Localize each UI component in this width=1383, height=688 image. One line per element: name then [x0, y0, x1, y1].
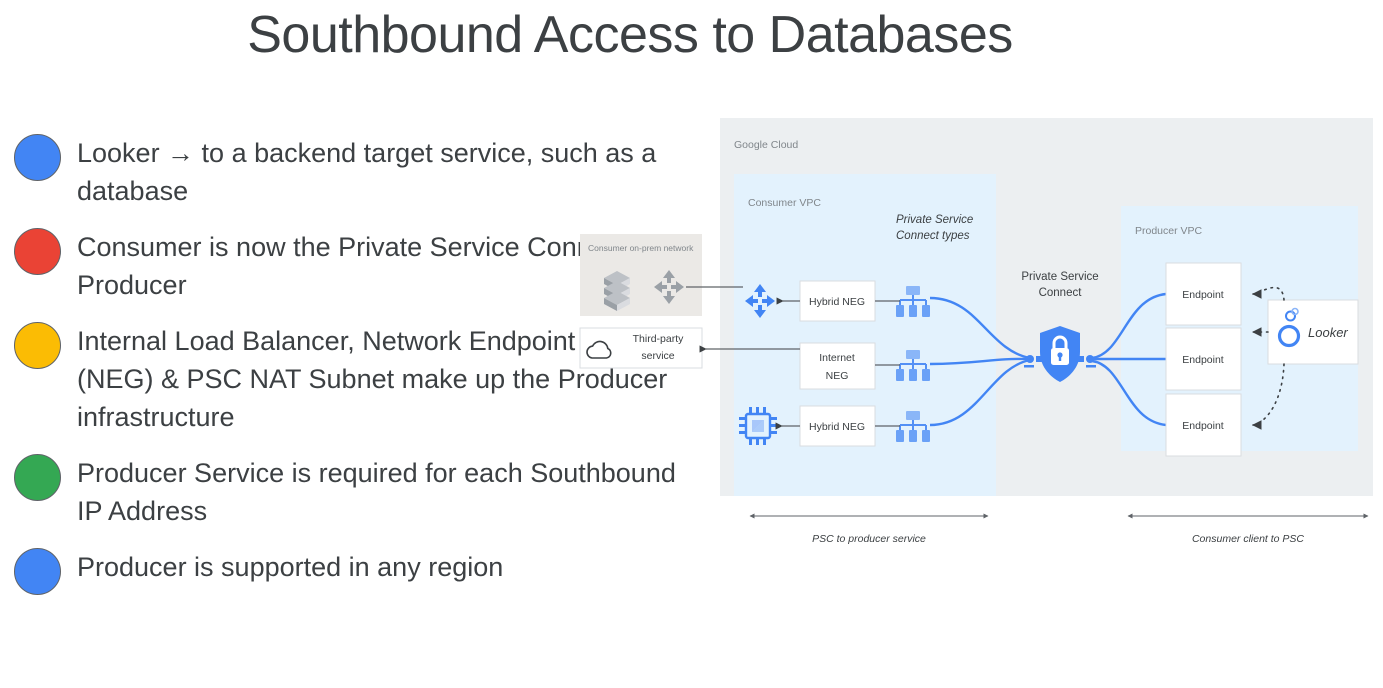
bullet-dot-blue-2 — [14, 548, 61, 595]
onprem-network-label: Consumer on-prem network — [588, 243, 694, 253]
bullet-dot-red — [14, 228, 61, 275]
neg-box-internet-label-line2: NEG — [826, 370, 849, 382]
third-party-label-line2: service — [641, 350, 674, 362]
neg-box-hybrid-2-label: Hybrid NEG — [809, 421, 865, 433]
caption-left: PSC to producer service — [812, 533, 926, 545]
neg-box-internet-label-line1: Internet — [819, 352, 855, 364]
producer-vpc-label: Producer VPC — [1135, 225, 1203, 237]
server-stack-icon — [604, 271, 630, 311]
bullet-dot-yellow — [14, 322, 61, 369]
endpoint-box-3-label: Endpoint — [1182, 420, 1224, 432]
psc-label-line2: Connect — [1039, 287, 1083, 299]
caption-right: Consumer client to PSC — [1192, 533, 1304, 545]
neg-box-hybrid-1-label: Hybrid NEG — [809, 296, 865, 308]
bullet-dot-green — [14, 454, 61, 501]
consumer-vpc-label: Consumer VPC — [748, 197, 821, 209]
looker-label: Looker — [1308, 325, 1348, 340]
google-cloud-label: Google Cloud — [734, 139, 798, 151]
bullet-dot-blue — [14, 134, 61, 181]
psc-types-label-line1: Private Service — [896, 214, 973, 226]
endpoint-box-1-label: Endpoint — [1182, 289, 1224, 301]
psc-types-label-line2: Connect types — [896, 230, 970, 242]
neg-box-internet — [800, 343, 875, 389]
endpoint-box-2-label: Endpoint — [1182, 354, 1224, 366]
page-title: Southbound Access to Databases — [0, 4, 1260, 66]
third-party-label-line1: Third-party — [633, 333, 685, 345]
architecture-diagram: Google Cloud Consumer VPC Producer VPC C… — [578, 118, 1373, 566]
psc-label-line1: Private Service — [1021, 271, 1098, 283]
list-item-label: Producer is supported in any region — [77, 544, 503, 586]
